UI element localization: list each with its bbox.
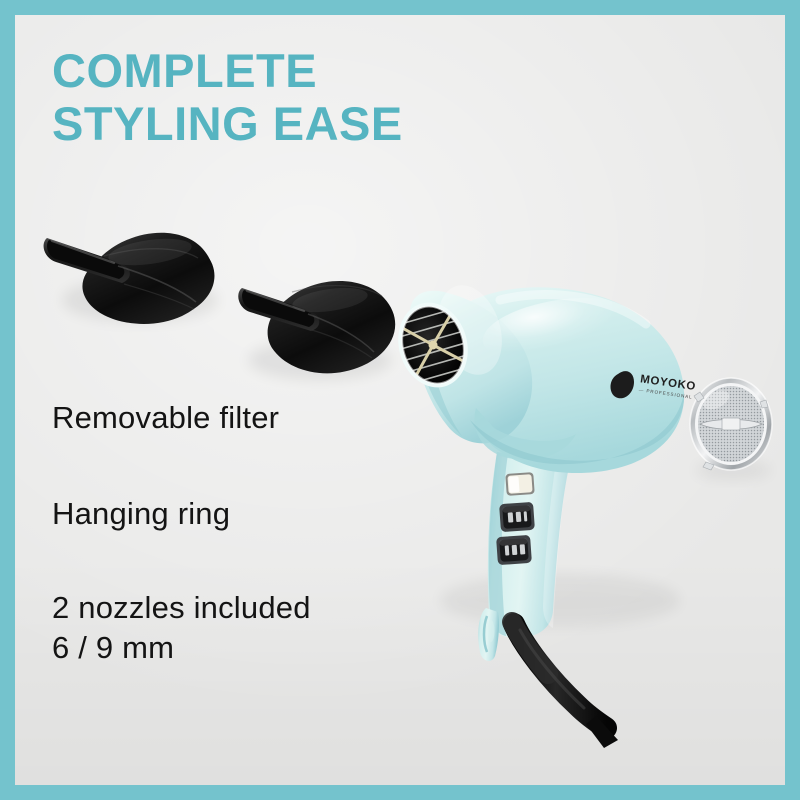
feature-nozzles: 2 nozzles included 6 / 9 mm <box>52 588 311 669</box>
page-title: COMPLETE STYLING EASE <box>52 44 572 150</box>
product-feature-card: MOYOKO — PROFESSIONAL — <box>0 0 800 800</box>
feature-removable-filter: Removable filter <box>52 398 279 438</box>
feature-hanging-ring: Hanging ring <box>52 494 230 534</box>
